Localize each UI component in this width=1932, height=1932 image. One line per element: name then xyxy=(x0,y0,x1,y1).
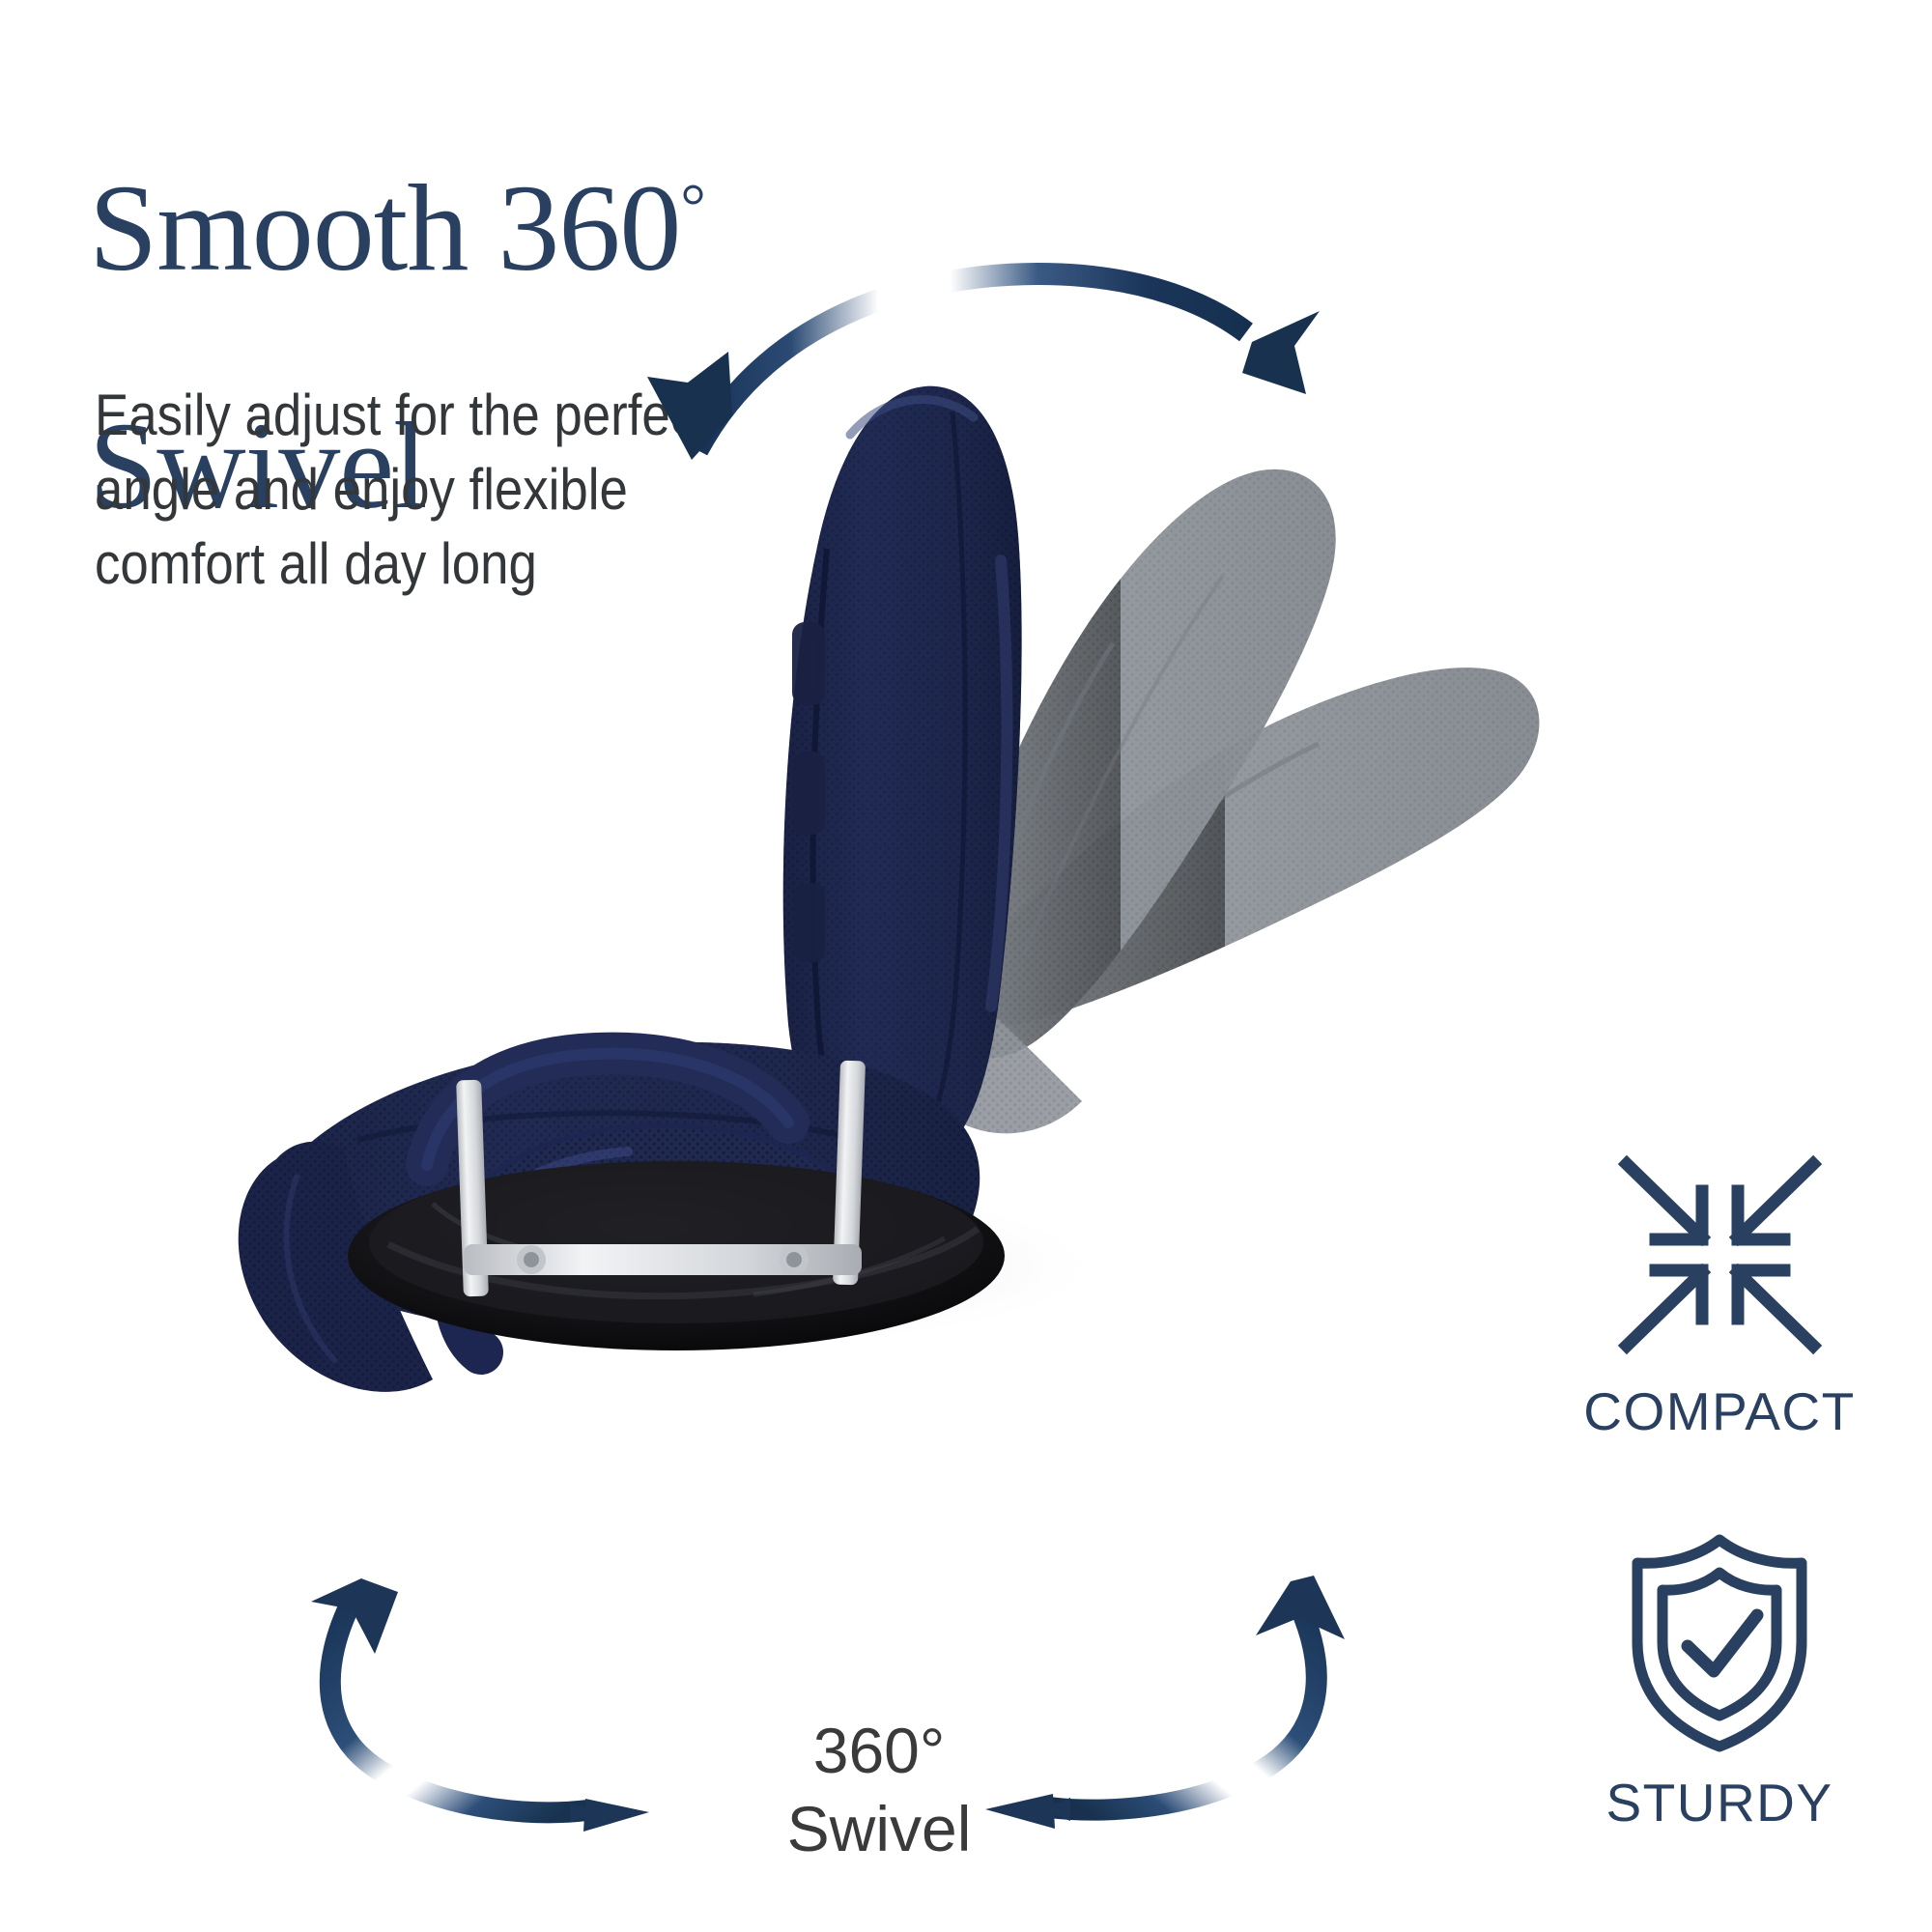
feature-sturdy: STURDY xyxy=(1546,1526,1893,1833)
feature-sturdy-label: STURDY xyxy=(1605,1772,1833,1833)
feature-compact: COMPACT xyxy=(1546,1145,1893,1442)
arrowhead-left xyxy=(647,352,732,460)
compact-arrows-icon xyxy=(1602,1145,1838,1367)
shield-check-icon xyxy=(1618,1526,1821,1758)
swivel-callout-label: 360° Swivel xyxy=(676,1712,1082,1867)
product-feature-graphic: Smooth 360° Swivel Easily adjust for the… xyxy=(0,0,1932,1932)
degree-symbol: ° xyxy=(680,171,704,241)
feature-compact-label: COMPACT xyxy=(1583,1380,1855,1442)
arrowhead-right xyxy=(1242,311,1320,394)
backrest-tab xyxy=(794,883,825,962)
swivel-arrow-left xyxy=(280,1536,696,1855)
recline-arrow xyxy=(628,261,1323,522)
backrest-tab xyxy=(792,622,825,705)
headline-line-1: Smooth 360 xyxy=(89,159,680,297)
arrowhead-right xyxy=(583,1799,649,1832)
backrest-tab xyxy=(792,752,825,835)
